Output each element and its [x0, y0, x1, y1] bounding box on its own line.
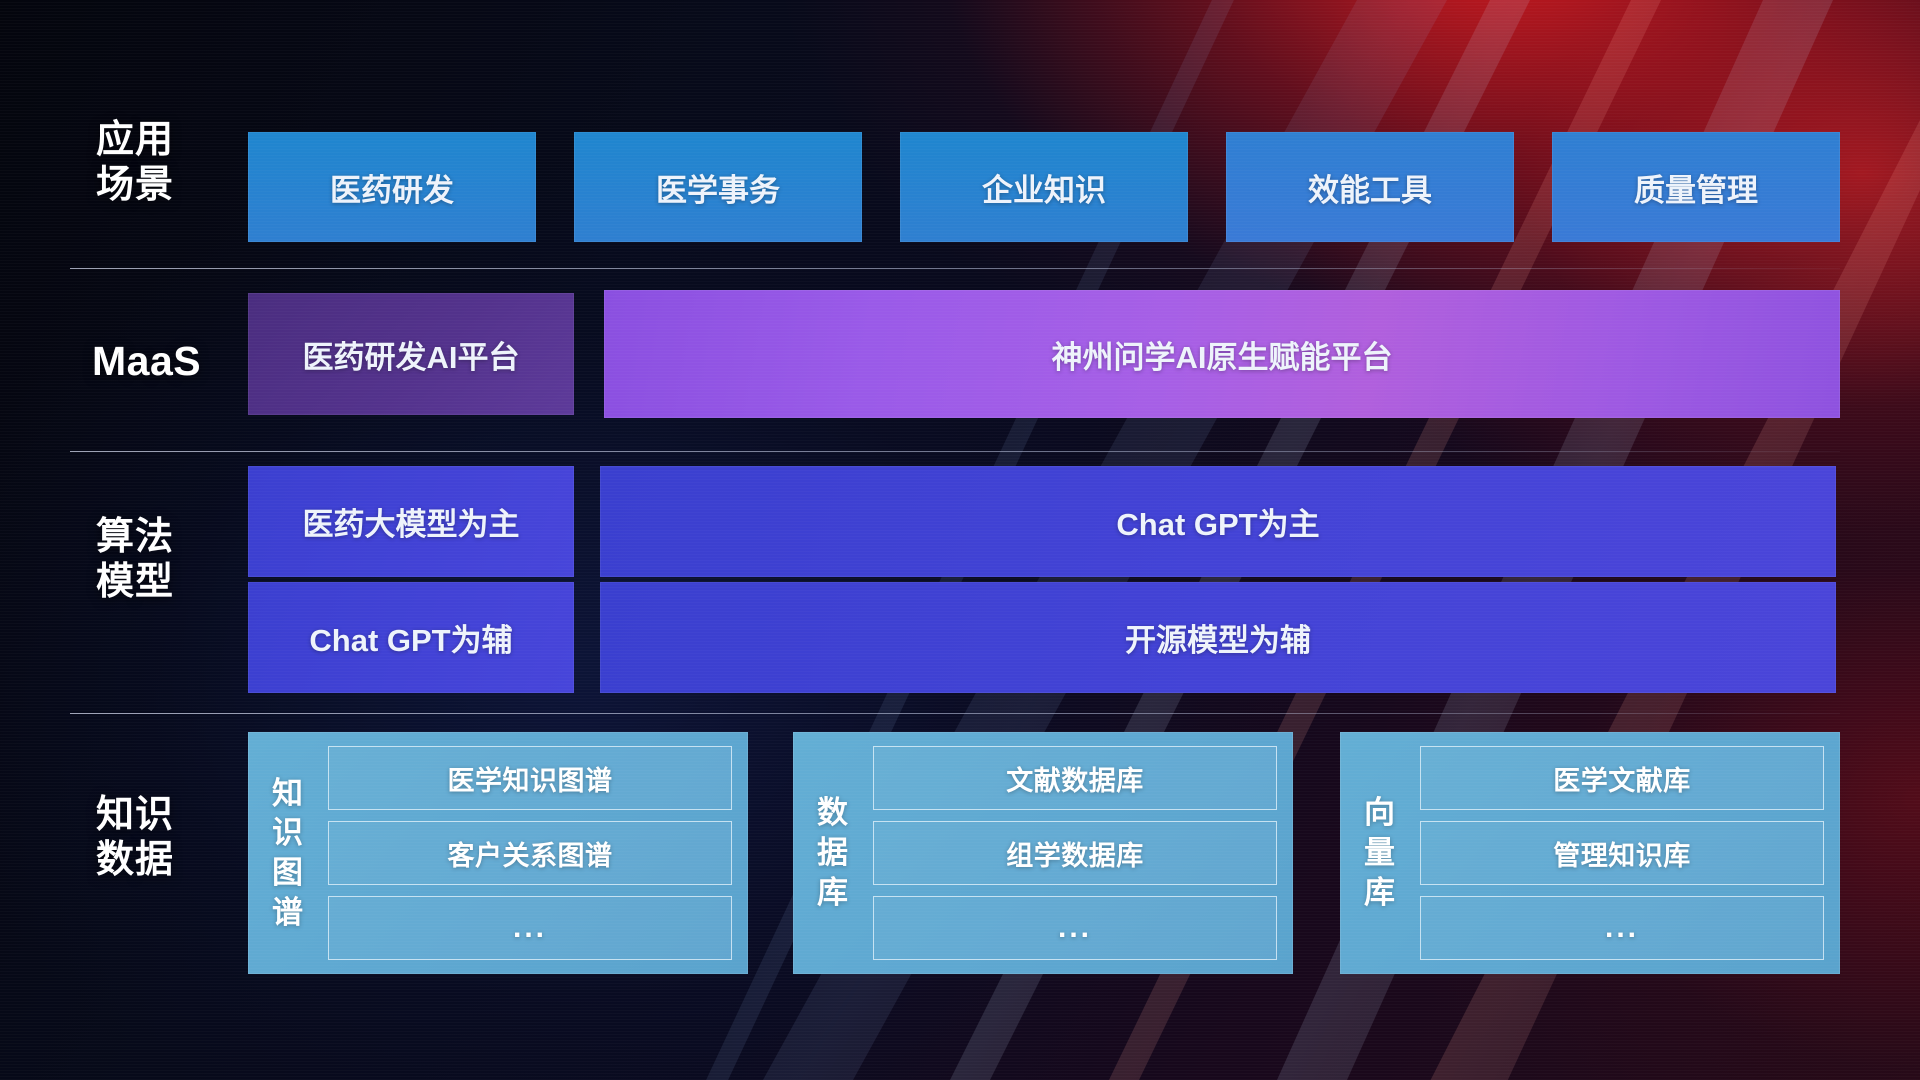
- knowledge-item-label: ...: [513, 911, 547, 945]
- knowledge-item-more[interactable]: ...: [328, 896, 732, 960]
- app-box-medical-affairs[interactable]: 医学事务: [574, 132, 862, 242]
- knowledge-panel-vertical-label: 数据库: [807, 746, 859, 960]
- knowledge-item-label: 文献数据库: [1006, 759, 1144, 798]
- knowledge-panel-vertical-label-text: 向量库: [1364, 793, 1396, 912]
- knowledge-panel-vertical-label: 向量库: [1354, 746, 1406, 960]
- algo-box-label: Chat GPT为主: [1116, 499, 1319, 544]
- knowledge-item-label: ...: [1605, 911, 1639, 945]
- app-box-enterprise-knowledge[interactable]: 企业知识: [900, 132, 1188, 242]
- app-box-label: 效能工具: [1308, 165, 1432, 210]
- architecture-sheet: 应用场景 医药研发 医学事务 企业知识 效能工具 质量管理 MaaS 医药研发A…: [0, 0, 1920, 1080]
- maas-box-label: 医药研发AI平台: [303, 332, 520, 377]
- knowledge-item[interactable]: 文献数据库: [873, 746, 1277, 810]
- maas-box-medicine-ai-platform[interactable]: 医药研发AI平台: [248, 293, 574, 415]
- algo-box-medicine-llm-primary[interactable]: 医药大模型为主: [248, 466, 574, 577]
- algo-box-label: 开源模型为辅: [1125, 615, 1311, 660]
- divider-algorithm-knowledge: [70, 713, 1840, 714]
- knowledge-panel-database[interactable]: 数据库 文献数据库 组学数据库 ...: [793, 732, 1293, 974]
- knowledge-panel-items: 文献数据库 组学数据库 ...: [873, 746, 1277, 960]
- row-label-application: 应用场景: [96, 118, 246, 208]
- knowledge-item-label: 管理知识库: [1553, 834, 1691, 873]
- app-box-quality-management[interactable]: 质量管理: [1552, 132, 1840, 242]
- knowledge-item-label: 医学知识图谱: [448, 759, 613, 798]
- knowledge-panel-vertical-label-text: 数据库: [817, 793, 849, 912]
- knowledge-panel-items: 医学知识图谱 客户关系图谱 ...: [328, 746, 732, 960]
- knowledge-panel-vertical-label: 知识图谱: [262, 746, 314, 960]
- app-box-medicine-rd[interactable]: 医药研发: [248, 132, 536, 242]
- knowledge-panel-vector-store[interactable]: 向量库 医学文献库 管理知识库 ...: [1340, 732, 1840, 974]
- knowledge-panel-vertical-label-text: 知识图谱: [272, 774, 304, 933]
- divider-application-maas: [70, 268, 1840, 269]
- row-label-knowledge: 知识数据: [96, 793, 246, 883]
- knowledge-item-label: ...: [1058, 911, 1092, 945]
- app-box-label: 企业知识: [982, 165, 1106, 210]
- maas-box-shenzhou-platform[interactable]: 神州问学AI原生赋能平台: [604, 290, 1840, 418]
- knowledge-item-label: 组学数据库: [1006, 834, 1144, 873]
- algo-box-chatgpt-secondary[interactable]: Chat GPT为辅: [248, 582, 574, 693]
- knowledge-item[interactable]: 医学文献库: [1420, 746, 1824, 810]
- row-label-maas: MaaS: [92, 337, 262, 385]
- knowledge-panel-items: 医学文献库 管理知识库 ...: [1420, 746, 1824, 960]
- maas-box-label: 神州问学AI原生赋能平台: [1052, 332, 1393, 377]
- algo-box-label: 医药大模型为主: [303, 499, 520, 544]
- divider-maas-algorithm: [70, 451, 1840, 452]
- diagram-canvas: 应用场景 医药研发 医学事务 企业知识 效能工具 质量管理 MaaS 医药研发A…: [0, 0, 1920, 1080]
- algo-box-label: Chat GPT为辅: [309, 615, 512, 660]
- algo-box-opensource-secondary[interactable]: 开源模型为辅: [600, 582, 1836, 693]
- app-box-label: 医学事务: [656, 165, 780, 210]
- knowledge-item[interactable]: 组学数据库: [873, 821, 1277, 885]
- knowledge-item[interactable]: 客户关系图谱: [328, 821, 732, 885]
- knowledge-item[interactable]: 医学知识图谱: [328, 746, 732, 810]
- knowledge-item-label: 医学文献库: [1553, 759, 1691, 798]
- knowledge-item-label: 客户关系图谱: [448, 834, 613, 873]
- knowledge-item[interactable]: 管理知识库: [1420, 821, 1824, 885]
- row-label-algorithm: 算法模型: [96, 515, 246, 605]
- knowledge-panel-knowledge-graph[interactable]: 知识图谱 医学知识图谱 客户关系图谱 ...: [248, 732, 748, 974]
- app-box-label: 医药研发: [330, 165, 454, 210]
- app-box-label: 质量管理: [1634, 165, 1758, 210]
- knowledge-item-more[interactable]: ...: [873, 896, 1277, 960]
- app-box-efficiency-tools[interactable]: 效能工具: [1226, 132, 1514, 242]
- knowledge-item-more[interactable]: ...: [1420, 896, 1824, 960]
- algo-box-chatgpt-primary[interactable]: Chat GPT为主: [600, 466, 1836, 577]
